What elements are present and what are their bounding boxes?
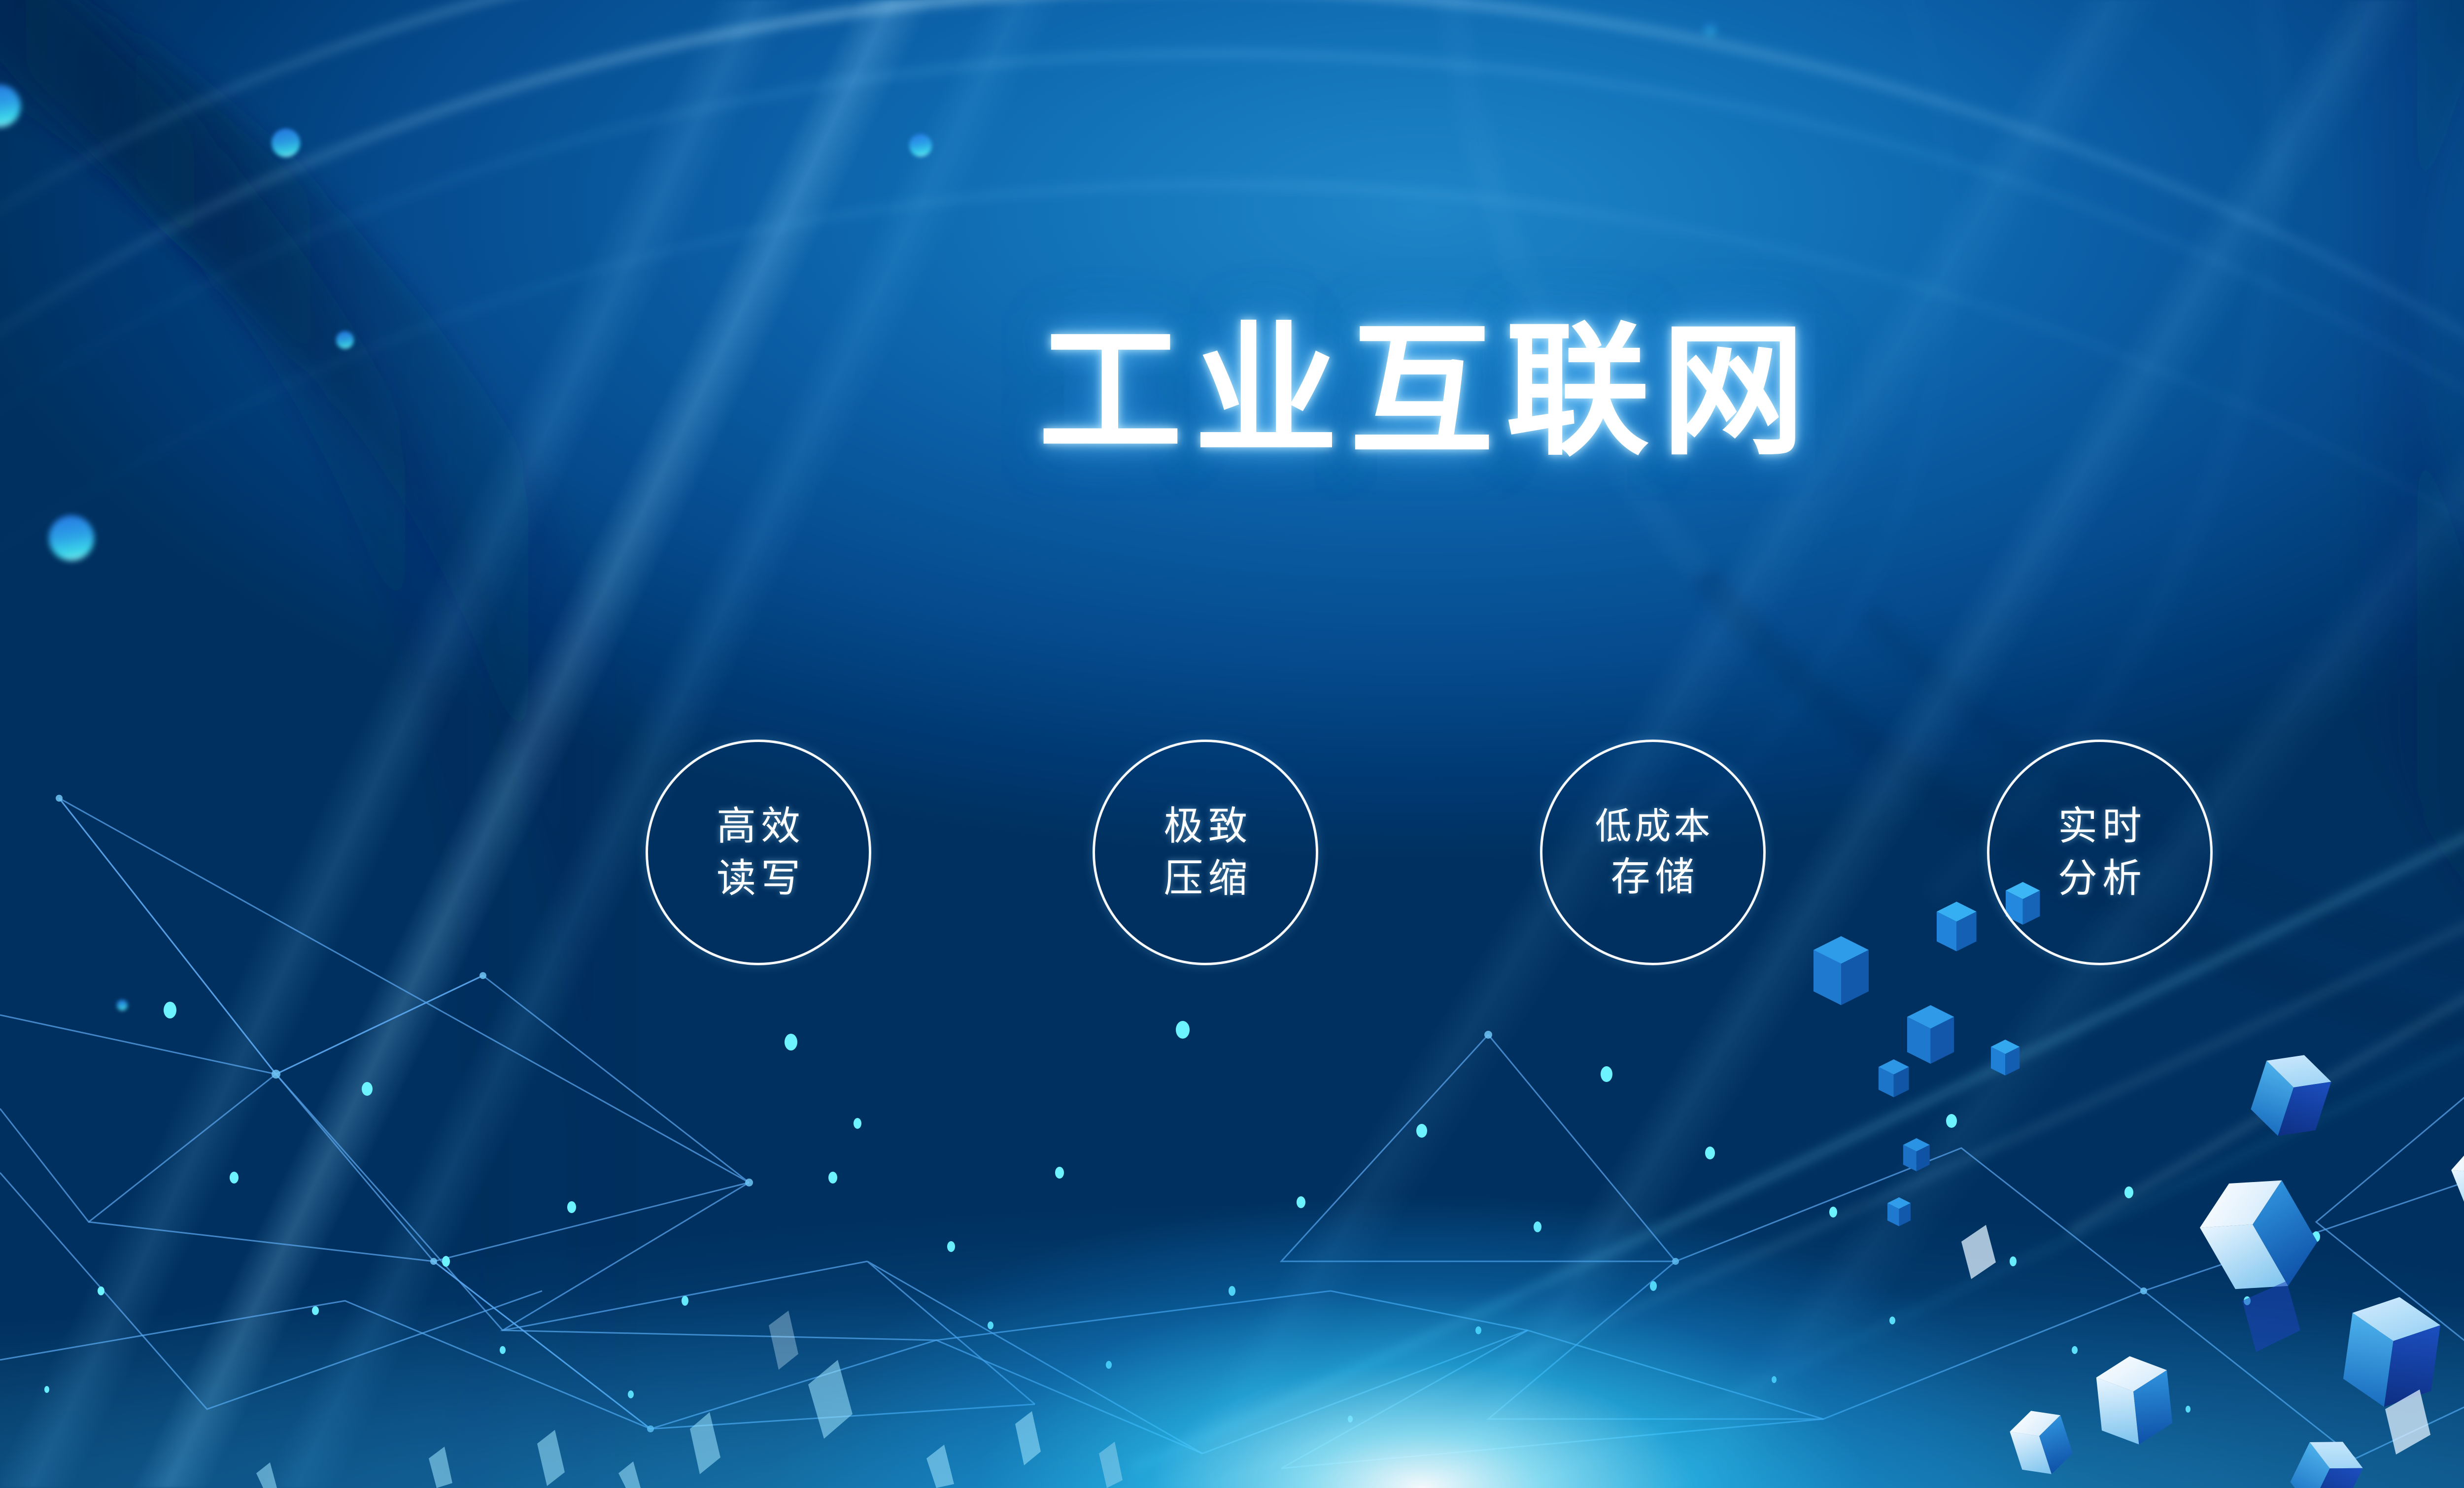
bokeh-orb — [0, 85, 21, 127]
bokeh-orb — [1704, 23, 1716, 36]
page-title-text: 工业互联网 — [1027, 319, 1817, 463]
bokeh-orb — [336, 331, 354, 349]
feature-circle-efficient-read-write[interactable]: 高效 读写 — [646, 740, 871, 965]
feature-label-line1: 实时 — [2053, 807, 2147, 846]
feature-label-line1: 低成本 — [1592, 808, 1713, 845]
feature-label-line2: 分析 — [2053, 859, 2147, 898]
bokeh-orb — [909, 134, 932, 157]
bokeh-orb — [272, 129, 300, 157]
feature-label-line2: 存储 — [1606, 857, 1700, 897]
feature-label-line1: 高效 — [712, 807, 805, 846]
feature-circle-row: 高效 读写 极致 压缩 低成本 存储 实时 分析 — [646, 737, 2213, 968]
feature-circle-extreme-compression[interactable]: 极致 压缩 — [1093, 740, 1318, 965]
page-title: 工业互联网 — [0, 319, 2464, 463]
feature-label-line2: 读写 — [712, 859, 805, 898]
bokeh-orb — [49, 515, 94, 561]
poster-canvas: 工业互联网 高效 读写 极致 压缩 低成本 存储 实时 分析 — [0, 0, 2464, 1488]
feature-circle-realtime-analytics[interactable]: 实时 分析 — [1987, 740, 2213, 965]
feature-label-line1: 极致 — [1159, 807, 1252, 846]
bokeh-orb — [117, 1000, 128, 1011]
feature-label-line2: 压缩 — [1159, 859, 1252, 898]
feature-circle-low-cost-storage[interactable]: 低成本 存储 — [1540, 740, 1766, 965]
